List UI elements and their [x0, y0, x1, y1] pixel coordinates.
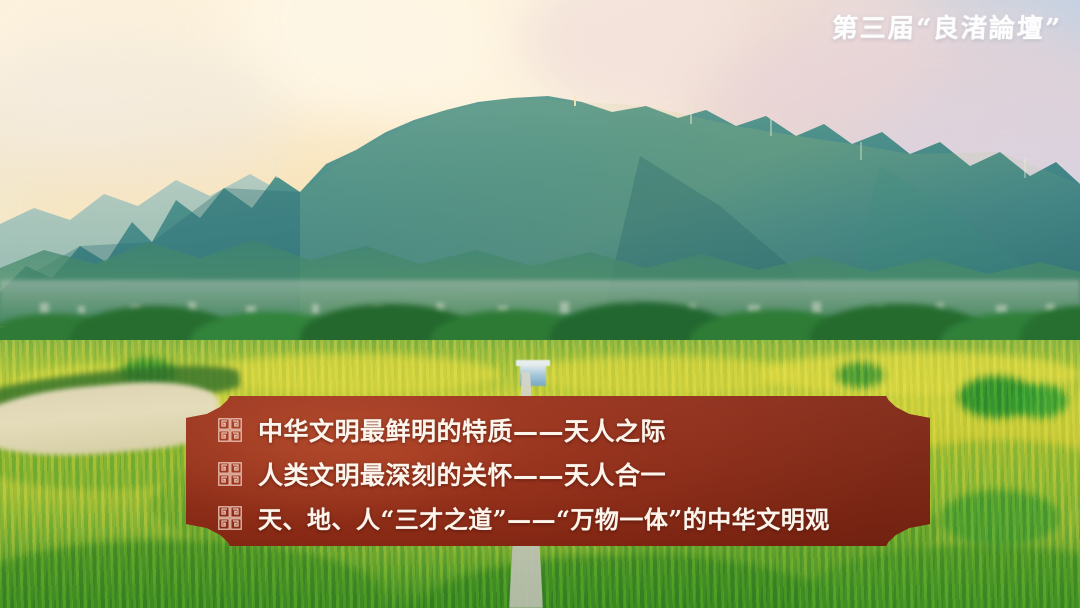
event-watermark: 第三届“良渚論壇”: [831, 8, 1063, 45]
chinese-meander-square-icon: [218, 506, 242, 530]
banner-line-text: 中华文明最鲜明的特质——天人之际: [258, 412, 666, 448]
chinese-meander-square-icon: [218, 418, 242, 442]
banner-line-item: 天、地、人“三才之道”——“万物一体”的中华文明观: [218, 497, 908, 538]
chinese-meander-square-icon: [218, 462, 242, 486]
banner-line-text: 天、地、人“三才之道”——“万物一体”的中华文明观: [258, 500, 830, 535]
key-points-banner: 中华文明最鲜明的特质——天人之际: [186, 396, 930, 546]
banner-line-item: 中华文明最鲜明的特质——天人之际: [218, 409, 908, 450]
banner-line-list: 中华文明最鲜明的特质——天人之际: [218, 409, 908, 541]
banner-line-text: 人类文明最深刻的关怀——天人合一: [258, 456, 666, 492]
slide-canvas: 第三届“良渚論壇”: [0, 0, 1080, 608]
banner-line-item: 人类文明最深刻的关怀——天人合一: [218, 453, 908, 494]
